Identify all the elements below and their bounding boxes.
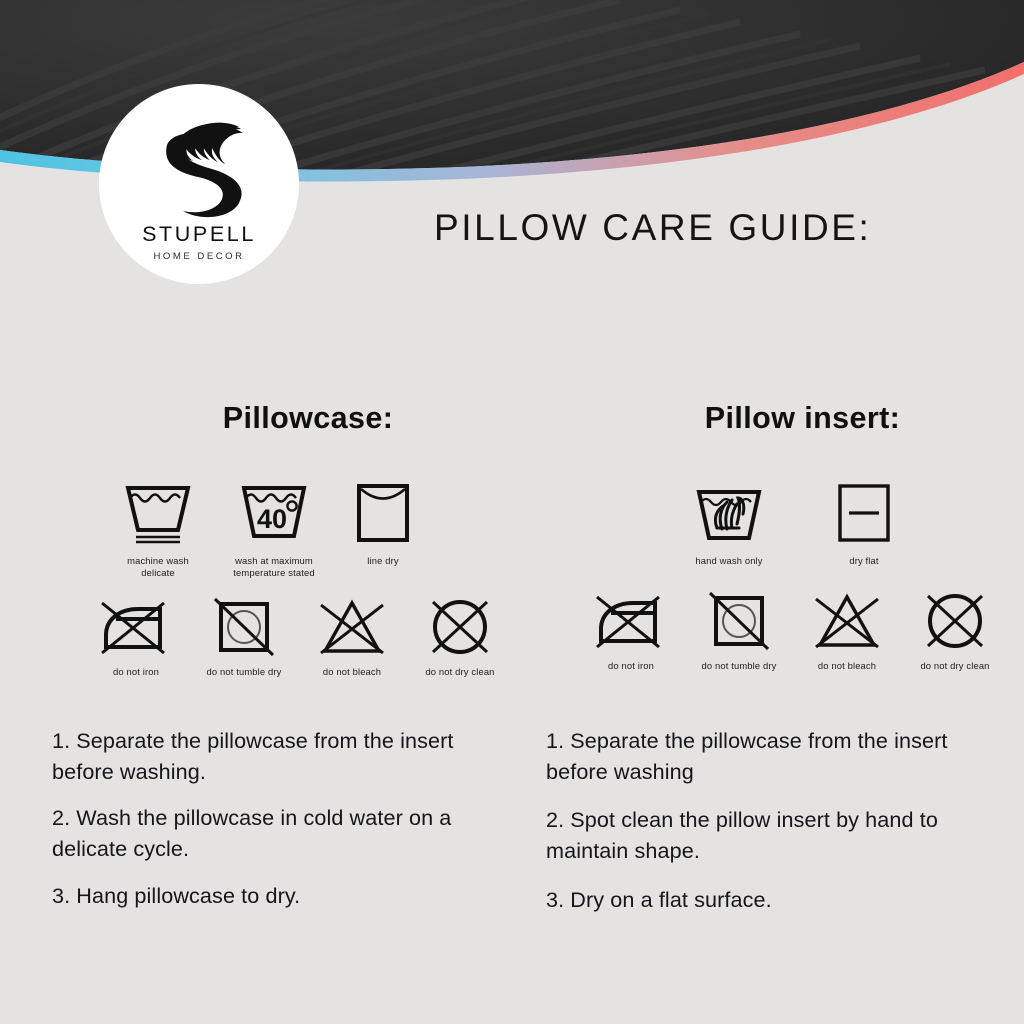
care-guide-page: STUPELL HOME DECOR PILLOW CARE GUIDE: Pi…	[0, 0, 1024, 1024]
line-dry-icon	[352, 478, 414, 548]
do-not-bleach-icon	[317, 597, 387, 659]
symbol-do-not-tumble-dry: do not tumble dry	[693, 591, 785, 672]
brand-logo-badge: STUPELL HOME DECOR	[99, 84, 299, 284]
stupell-s-swoosh-logo-icon	[138, 103, 260, 223]
symbol-caption: wash at maximumtemperature stated	[233, 555, 314, 579]
symbol-wash-max-temperature: 40 wash at maximumtemperature stated	[228, 478, 320, 579]
symbol-do-not-iron: do not iron	[585, 591, 677, 672]
section-pillowcase: Pillowcase: machine washdelicate	[50, 403, 520, 677]
symbol-do-not-bleach: do not bleach	[801, 591, 893, 672]
section-heading-pillow-insert: Pillow insert:	[545, 403, 1015, 449]
dry-flat-icon	[833, 478, 895, 548]
symbol-do-not-iron: do not iron	[90, 597, 182, 678]
symbol-dry-flat: dry flat	[825, 478, 903, 567]
instruction-step: 2. Wash the pillowcase in cold water on …	[52, 803, 500, 864]
symbol-caption: hand wash only	[695, 555, 762, 567]
symbol-caption: line dry	[367, 555, 398, 567]
symbol-caption: dry flat	[849, 555, 878, 567]
symbol-hand-wash-only: hand wash only	[675, 478, 783, 567]
instruction-step: 1. Separate the pillowcase from the inse…	[546, 726, 998, 787]
symbol-caption: do not bleach	[818, 660, 876, 672]
instruction-step: 3. Hang pillowcase to dry.	[52, 881, 500, 912]
pillow-insert-instructions: 1. Separate the pillowcase from the inse…	[546, 726, 998, 933]
do-not-iron-icon	[98, 597, 174, 659]
wash-max-temperature-40-icon: 40	[236, 478, 312, 548]
instruction-step: 2. Spot clean the pillow insert by hand …	[546, 805, 998, 866]
svg-text:40: 40	[257, 504, 287, 534]
machine-wash-delicate-icon	[120, 478, 196, 548]
pillowcase-instructions: 1. Separate the pillowcase from the inse…	[52, 726, 500, 927]
pillow-insert-symbol-row-2: do not iron do not tumble dry	[545, 591, 1015, 672]
pillowcase-symbol-row-2: do not iron do not tumble dry	[50, 597, 520, 678]
section-pillow-insert: Pillow insert:	[545, 403, 1015, 672]
do-not-bleach-icon	[812, 591, 882, 653]
do-not-dry-clean-icon	[425, 597, 495, 659]
page-title: PILLOW CARE GUIDE:	[434, 207, 871, 249]
section-heading-pillowcase: Pillowcase:	[50, 403, 520, 449]
symbol-caption: do not bleach	[323, 666, 381, 678]
symbol-caption: do not tumble dry	[207, 666, 282, 678]
symbol-do-not-dry-clean: do not dry clean	[414, 597, 506, 678]
symbol-line-dry: line dry	[344, 478, 422, 567]
symbol-caption: do not iron	[113, 666, 159, 678]
symbol-do-not-dry-clean: do not dry clean	[909, 591, 1001, 672]
symbol-caption: do not iron	[608, 660, 654, 672]
do-not-dry-clean-icon	[920, 591, 990, 653]
do-not-tumble-dry-icon	[209, 597, 279, 659]
hand-wash-only-icon	[691, 478, 767, 548]
symbol-caption: do not dry clean	[920, 660, 989, 672]
symbol-caption: machine washdelicate	[127, 555, 189, 579]
symbol-do-not-tumble-dry: do not tumble dry	[198, 597, 290, 678]
symbol-do-not-bleach: do not bleach	[306, 597, 398, 678]
instruction-step: 1. Separate the pillowcase from the inse…	[52, 726, 500, 787]
pillowcase-symbol-row-1: machine washdelicate 40 wash at maximumt…	[50, 478, 520, 579]
do-not-tumble-dry-icon	[704, 591, 774, 653]
symbol-caption: do not tumble dry	[702, 660, 777, 672]
brand-name: STUPELL	[142, 224, 256, 246]
symbol-caption: do not dry clean	[425, 666, 494, 678]
pillow-insert-symbol-row-1: hand wash only dry flat	[545, 478, 1015, 567]
symbol-machine-wash-delicate: machine washdelicate	[112, 478, 204, 579]
brand-tagline: HOME DECOR	[153, 252, 244, 262]
instruction-step: 3. Dry on a flat surface.	[546, 885, 998, 916]
do-not-iron-icon	[593, 591, 669, 653]
